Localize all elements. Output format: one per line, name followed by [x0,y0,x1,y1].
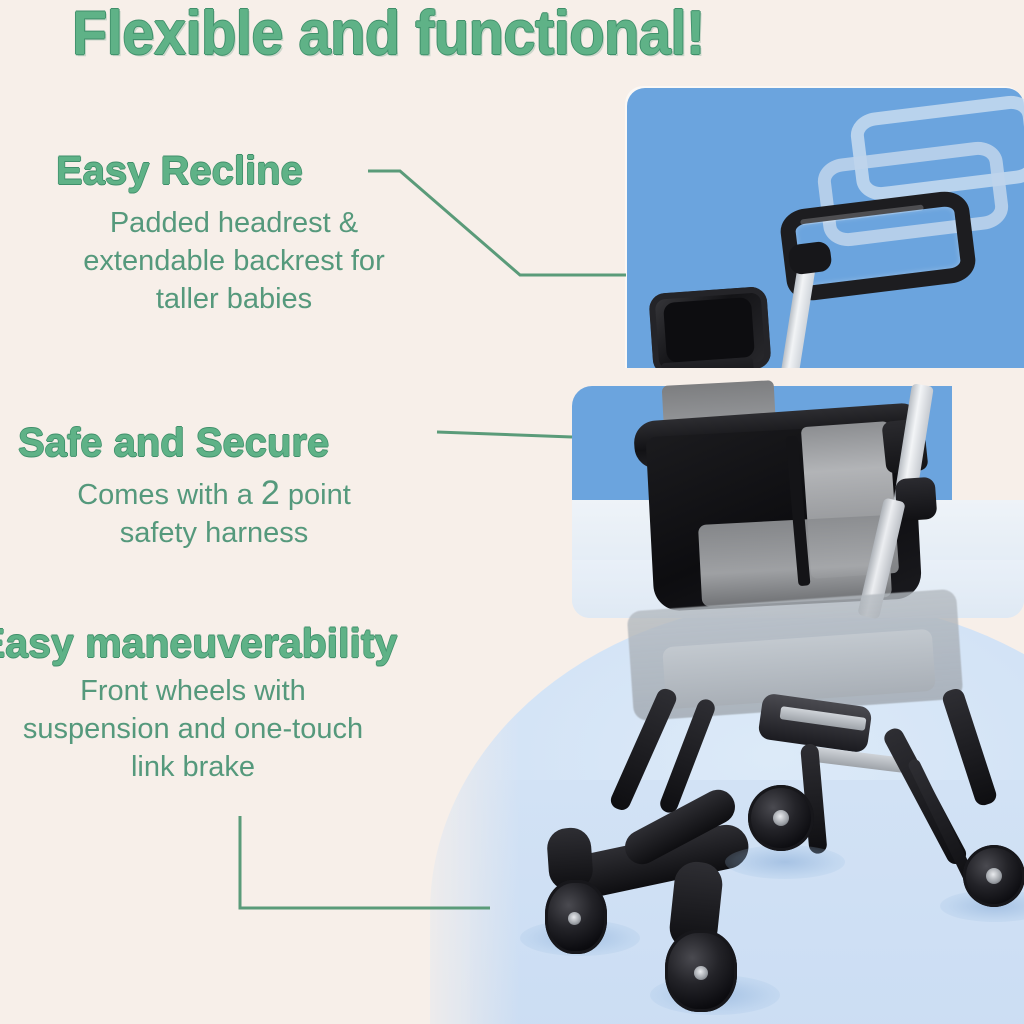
feature-easy-maneuverability: Easy maneuverability Front wheels with s… [0,620,538,786]
product-feature-infographic: Flexible and functional! Easy Recline Pa… [0,0,1024,1024]
feature-description: Padded headrest & extendable backrest fo… [56,204,412,318]
feature-description: Front wheels with suspension and one-tou… [0,672,408,786]
feature-safe-and-secure: Safe and Secure Comes with a 2 point saf… [18,420,410,552]
feature-description: Comes with a 2 point safety harness [18,474,410,552]
feature-heading: Easy Recline [56,148,412,194]
feature-heading: Safe and Secure [18,420,410,466]
feature-heading: Easy maneuverability [0,620,538,666]
harness-point-count: 2 [261,474,280,512]
feature-easy-recline: Easy Recline Padded headrest & extendabl… [56,148,412,318]
connector-line-secure [437,432,572,437]
connector-line-maneuver [240,816,490,908]
page-title: Flexible and functional! [72,2,816,66]
feature-description-part-1: Comes with a [77,479,261,511]
